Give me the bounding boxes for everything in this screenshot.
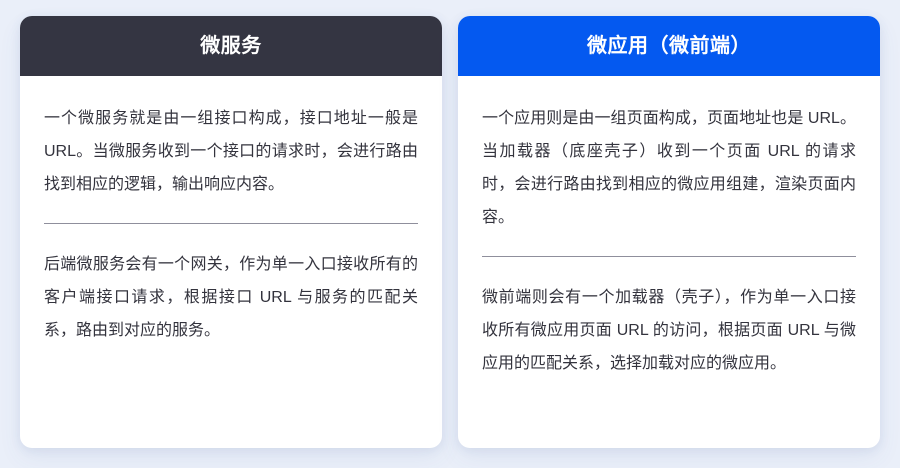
card-microservice: 微服务 一个微服务就是由一组接口构成，接口地址一般是 URL。当微服务收到一个接… (20, 16, 442, 448)
section-divider (482, 256, 856, 257)
card-header-microservice: 微服务 (20, 16, 442, 76)
card-paragraph-secondary: 微前端则会有一个加载器（壳子），作为单一入口接收所有微应用页面 URL 的访问，… (482, 281, 856, 380)
section-divider (44, 223, 418, 224)
card-paragraph-secondary: 后端微服务会有一个网关，作为单一入口接收所有的客户端接口请求，根据接口 URL … (44, 248, 418, 347)
card-paragraph-primary: 一个微服务就是由一组接口构成，接口地址一般是 URL。当微服务收到一个接口的请求… (44, 102, 418, 201)
comparison-board: 微服务 一个微服务就是由一组接口构成，接口地址一般是 URL。当微服务收到一个接… (0, 0, 900, 468)
card-header-micro-app: 微应用（微前端） (458, 16, 880, 76)
card-body-micro-app: 一个应用则是由一组页面构成，页面地址也是 URL。当加载器（底座壳子）收到一个页… (458, 76, 880, 448)
card-title-microservice: 微服务 (200, 36, 262, 56)
card-title-micro-app: 微应用（微前端） (587, 36, 751, 56)
card-micro-app: 微应用（微前端） 一个应用则是由一组页面构成，页面地址也是 URL。当加载器（底… (458, 16, 880, 448)
card-paragraph-primary: 一个应用则是由一组页面构成，页面地址也是 URL。当加载器（底座壳子）收到一个页… (482, 102, 856, 234)
card-body-microservice: 一个微服务就是由一组接口构成，接口地址一般是 URL。当微服务收到一个接口的请求… (20, 76, 442, 448)
